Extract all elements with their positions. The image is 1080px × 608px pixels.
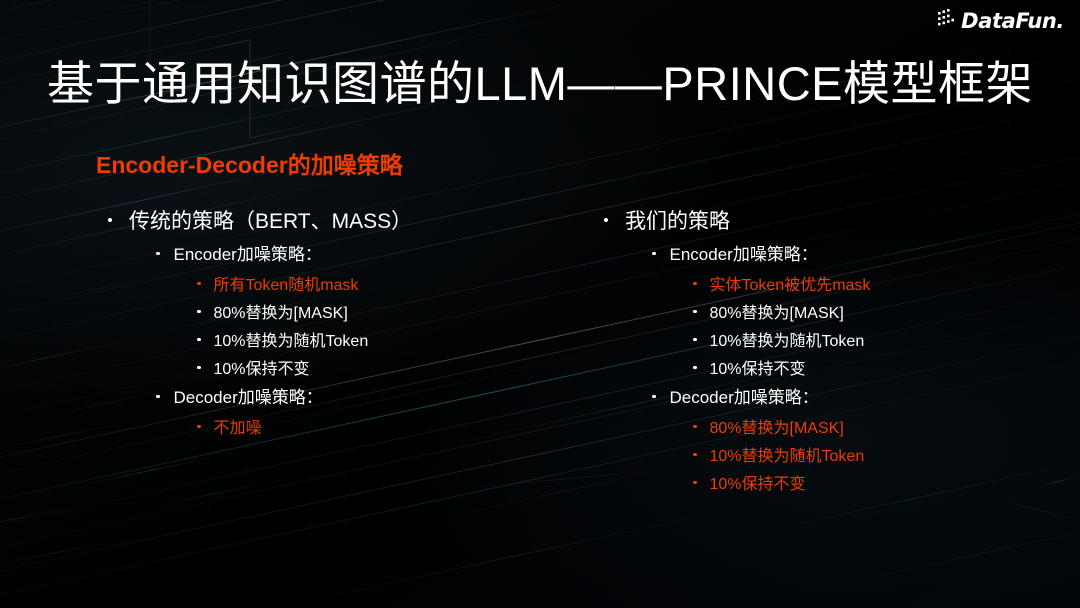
- list-item-label: 10%保持不变: [710, 355, 806, 379]
- bullet-icon: [156, 252, 160, 256]
- bullet-icon: [652, 252, 656, 256]
- list-item: 10%保持不变: [197, 355, 578, 383]
- list-item: 80%替换为[MASK]: [197, 299, 578, 327]
- bullet-icon: [693, 338, 697, 342]
- list-item: 10%替换为随机Token: [197, 327, 578, 355]
- group-label-text: Encoder加噪策略：: [174, 240, 322, 265]
- bullet-icon: [197, 366, 201, 370]
- group-label-decoder: Decoder加噪策略：: [652, 383, 1064, 414]
- list-item-label: 80%替换为[MASK]: [710, 299, 844, 323]
- bullet-icon: [197, 425, 201, 429]
- list-item-label: 10%替换为随机Token: [710, 327, 865, 351]
- bullet-icon: [156, 395, 160, 399]
- group-label-text: Decoder加噪策略：: [174, 383, 323, 408]
- group-label-text: Encoder加噪策略：: [670, 240, 818, 265]
- list-item-label: 80%替换为[MASK]: [214, 299, 348, 323]
- column-heading: 传统的策略（BERT、MASS）: [108, 205, 578, 240]
- column-heading-label: 我们的策略: [625, 205, 730, 235]
- group-label-decoder: Decoder加噪策略：: [156, 383, 578, 414]
- list-item: 不加噪: [197, 414, 578, 442]
- list-item-label: 不加噪: [214, 414, 262, 438]
- bullet-icon: [693, 366, 697, 370]
- list-item: 10%保持不变: [693, 470, 1064, 498]
- list-item-label: 所有Token随机mask: [214, 271, 359, 295]
- bullet-icon: [693, 425, 697, 429]
- bullet-icon: [693, 310, 697, 314]
- datafun-logo: DataFun.: [937, 8, 1064, 34]
- list-item: 10%替换为随机Token: [693, 327, 1064, 355]
- bullet-icon: [108, 218, 112, 222]
- list-item: 10%保持不变: [693, 355, 1064, 383]
- bullet-icon: [197, 310, 201, 314]
- dot-matrix-icon: [937, 9, 959, 34]
- list-item-label: 10%保持不变: [214, 355, 310, 379]
- list-item-label: 10%替换为随机Token: [710, 442, 865, 466]
- list-item-label: 10%替换为随机Token: [214, 327, 369, 351]
- bullet-icon: [197, 338, 201, 342]
- column-heading: 我们的策略: [604, 205, 1064, 240]
- bullet-icon: [693, 282, 697, 286]
- list-item-label: 10%保持不变: [710, 470, 806, 494]
- list-item-label: 实体Token被优先mask: [710, 271, 871, 295]
- bullet-icon: [652, 395, 656, 399]
- list-item: 80%替换为[MASK]: [693, 414, 1064, 442]
- group-label-encoder: Encoder加噪策略：: [156, 240, 578, 271]
- bullet-icon: [693, 481, 697, 485]
- column-traditional: 传统的策略（BERT、MASS） Encoder加噪策略： 所有Token随机m…: [108, 205, 578, 442]
- group-label-encoder: Encoder加噪策略：: [652, 240, 1064, 271]
- page-title: 基于通用知识图谱的LLM——PRINCE模型框架: [47, 57, 1033, 111]
- list-item: 实体Token被优先mask: [693, 271, 1064, 299]
- list-item: 80%替换为[MASK]: [693, 299, 1064, 327]
- list-item-label: 80%替换为[MASK]: [710, 414, 844, 438]
- column-heading-label: 传统的策略（BERT、MASS）: [129, 205, 412, 235]
- logo-wordmark: DataFun.: [961, 11, 1064, 32]
- list-item: 所有Token随机mask: [197, 271, 578, 299]
- section-subtitle: Encoder-Decoder的加噪策略: [96, 152, 403, 180]
- slide-root: DataFun. 基于通用知识图谱的LLM——PRINCE模型框架 Encode…: [0, 0, 1080, 608]
- bullet-icon: [693, 453, 697, 457]
- bullet-icon: [604, 218, 608, 222]
- group-label-text: Decoder加噪策略：: [670, 383, 819, 408]
- column-ours: 我们的策略 Encoder加噪策略： 实体Token被优先mask 80%替换为…: [604, 205, 1064, 498]
- list-item: 10%替换为随机Token: [693, 442, 1064, 470]
- bullet-icon: [197, 282, 201, 286]
